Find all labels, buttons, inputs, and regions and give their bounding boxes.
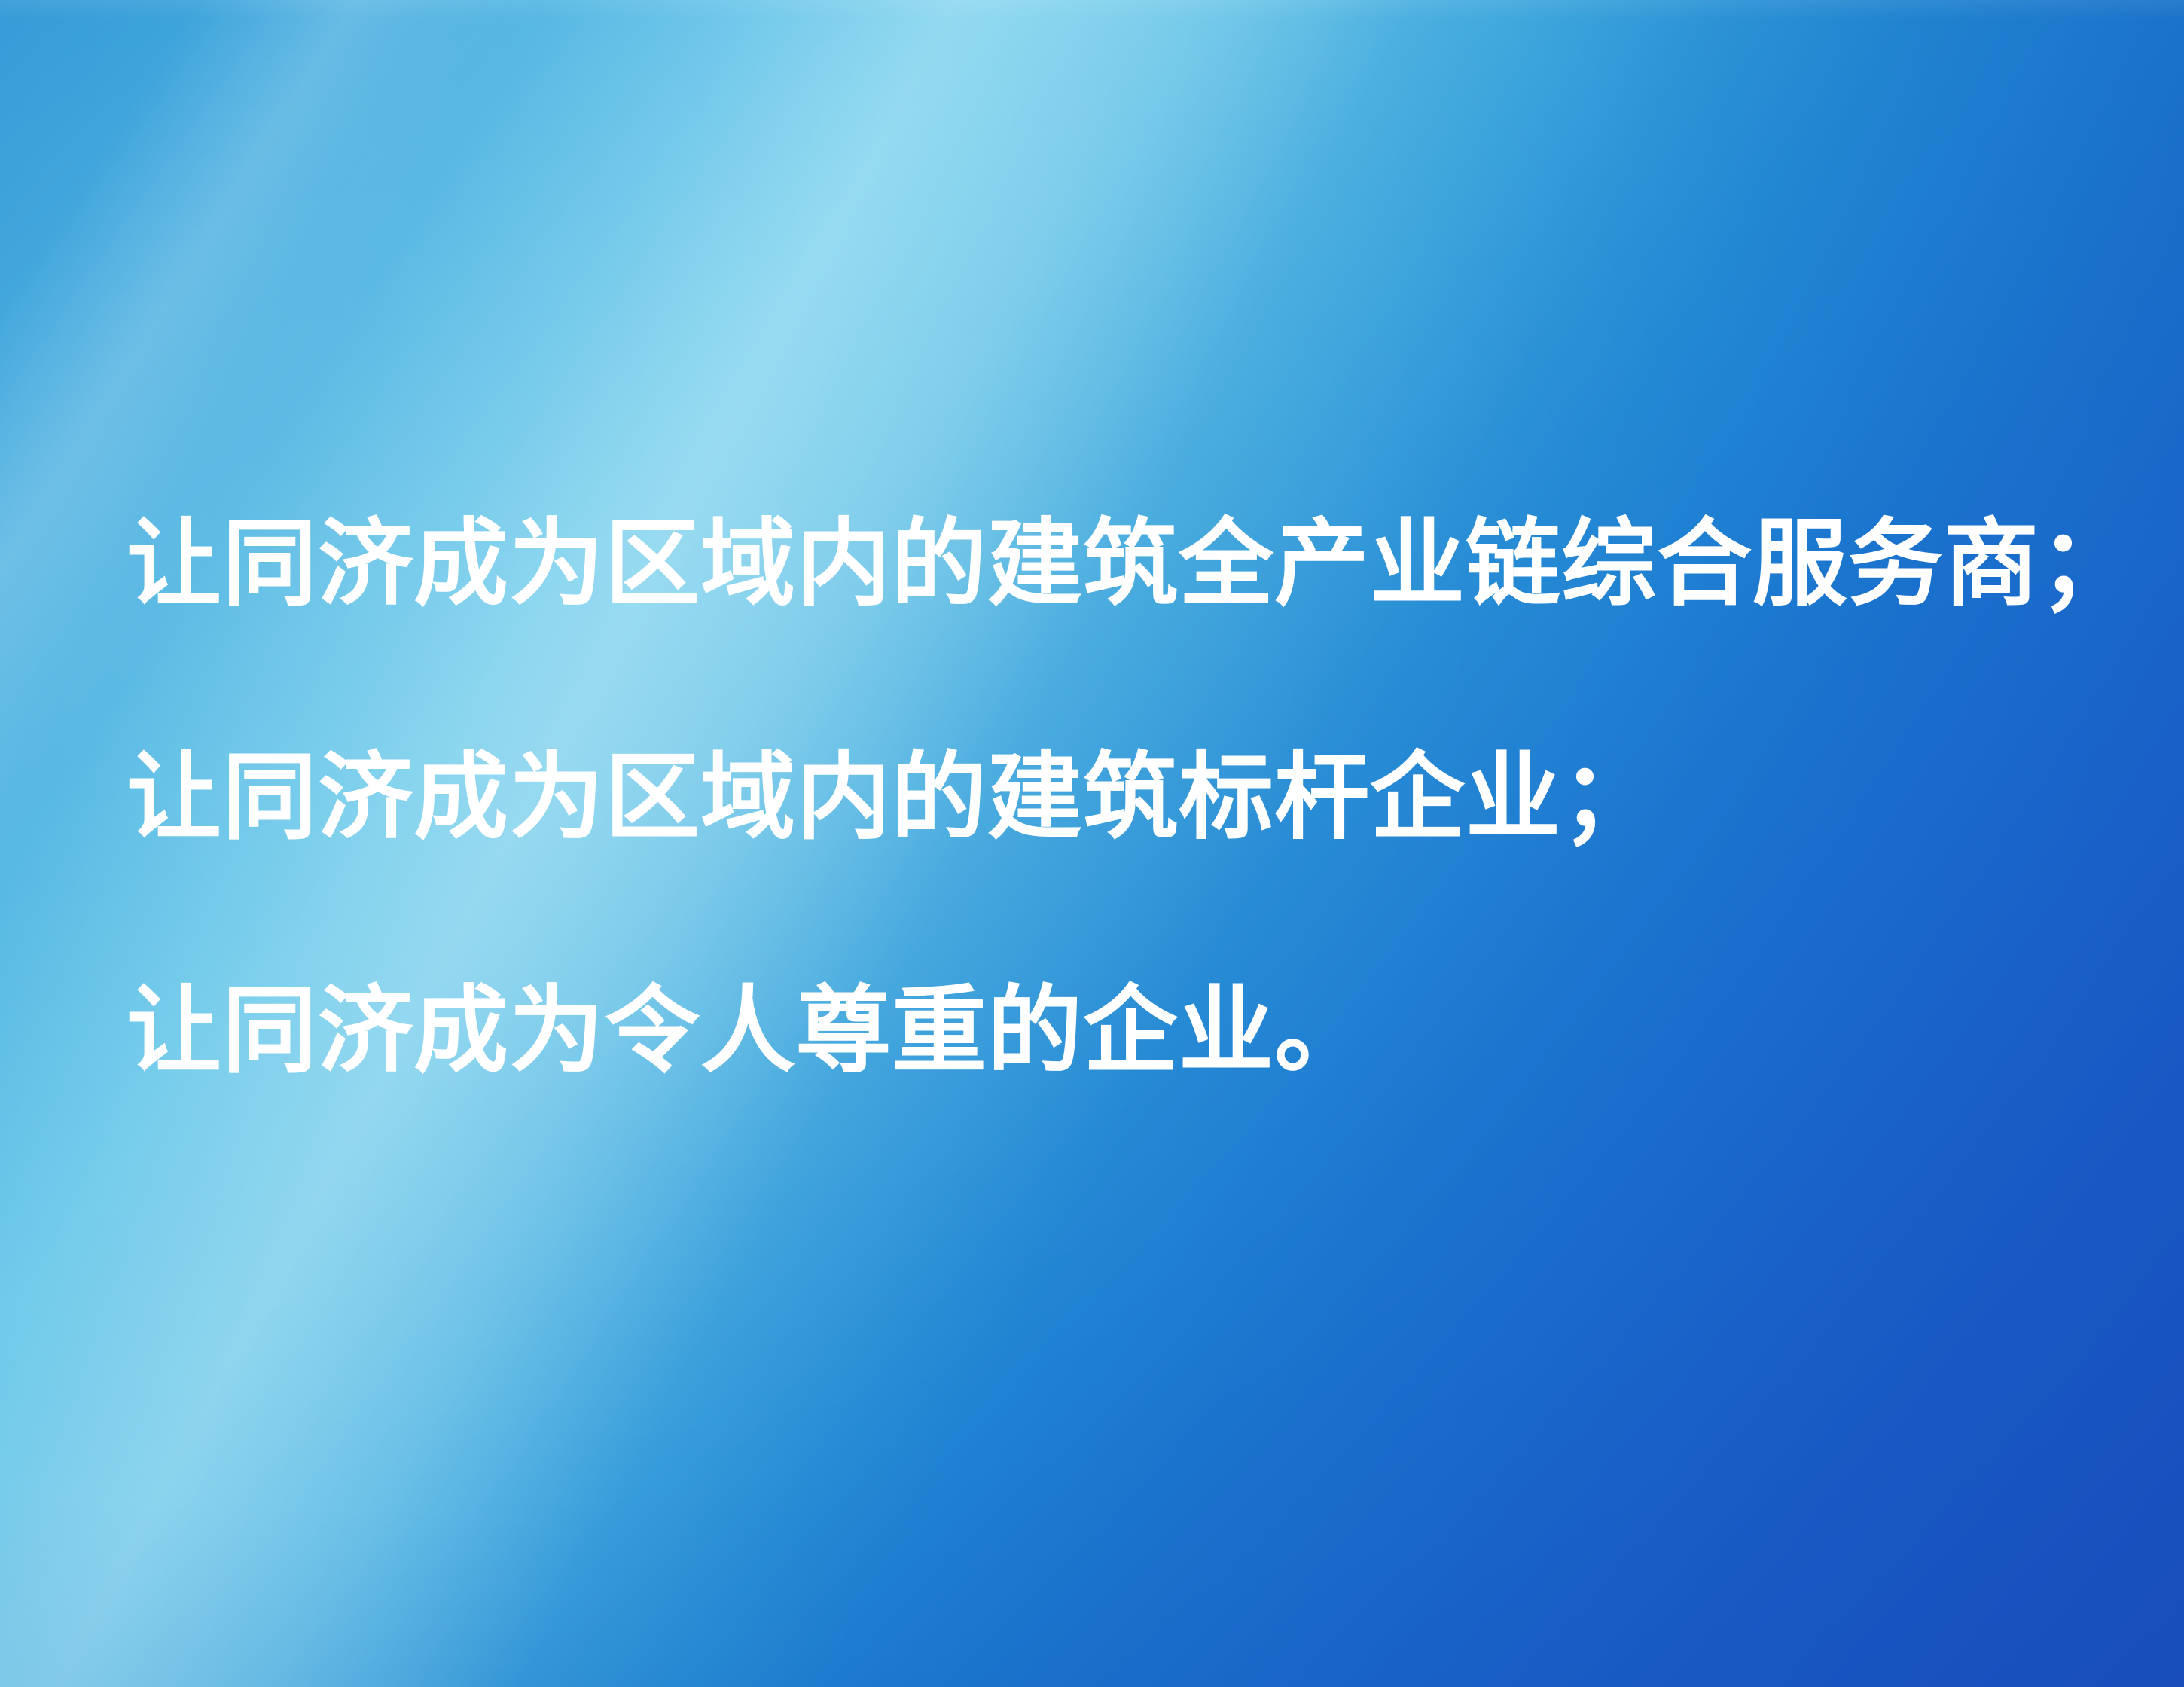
vision-line-3: 让同济成为令人尊重的企业。 [127,916,2115,1149]
vision-line-2: 让同济成为区域内的建筑标杆企业； [127,682,2115,916]
vision-statement-block: 让同济成为区域内的建筑全产业链综合服务商； 让同济成为区域内的建筑标杆企业； 让… [127,449,2115,1149]
presentation-slide: 让同济成为区域内的建筑全产业链综合服务商； 让同济成为区域内的建筑标杆企业； 让… [0,0,2184,1687]
vision-line-1: 让同济成为区域内的建筑全产业链综合服务商； [127,449,2115,682]
